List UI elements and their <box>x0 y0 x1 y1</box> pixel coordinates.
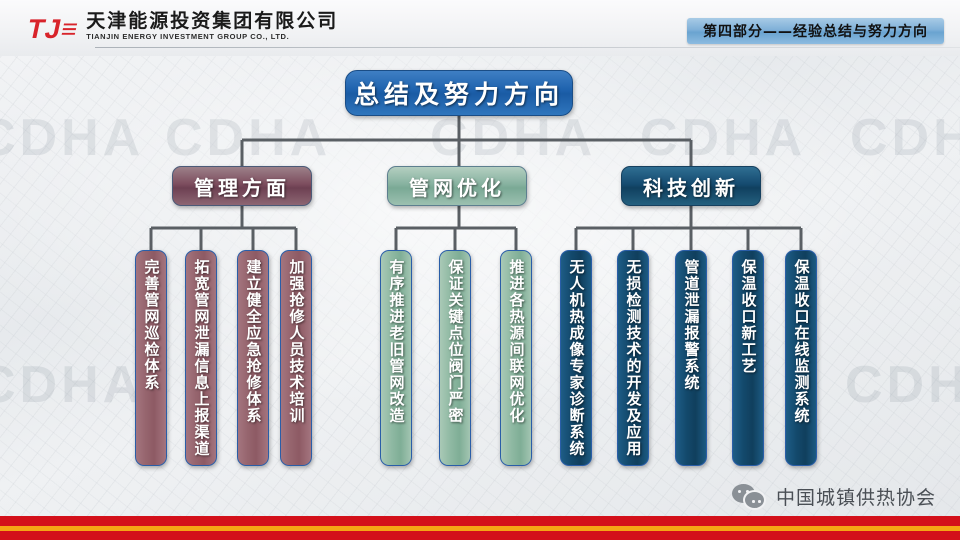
tje-logomark: TJ≡ <box>25 16 80 42</box>
org-diagram: 总结及努力方向 管理方面 管网优化 科技创新 完善管网巡检体系 拓宽管网泄漏信息… <box>0 56 960 476</box>
leaf-node[interactable]: 保温收口在线监测系统 <box>785 250 817 466</box>
root-node-label: 总结及努力方向 <box>354 75 564 111</box>
leaf-node-label: 保温收口在线监测系统 <box>793 259 810 424</box>
leaf-node[interactable]: 无人机热成像专家诊断系统 <box>560 250 592 466</box>
slide-footer-bar <box>0 516 960 540</box>
leaf-node-label: 有序推进老旧管网改造 <box>388 259 405 424</box>
section-banner-label: 第四部分——经验总结与努力方向 <box>703 21 928 41</box>
leaf-node-label: 拓宽管网泄漏信息上报渠道 <box>193 259 210 457</box>
leaf-node[interactable]: 有序推进老旧管网改造 <box>380 250 412 466</box>
leaf-node-label: 保温收口新工艺 <box>740 259 757 375</box>
section-banner: 第四部分——经验总结与努力方向 <box>687 18 944 44</box>
footer-stripe <box>0 526 960 531</box>
slide-header: TJ≡ 天津能源投资集团有限公司 TIANJIN ENERGY INVESTME… <box>0 0 960 56</box>
leaf-node[interactable]: 完善管网巡检体系 <box>135 250 167 466</box>
category-node-management[interactable]: 管理方面 <box>172 166 312 206</box>
leaf-node[interactable]: 推进各热源间联网优化 <box>500 250 532 466</box>
leaf-node-label: 保证关键点位阀门严密 <box>447 259 464 424</box>
leaf-node[interactable]: 无损检测技术的开发及应用 <box>617 250 649 466</box>
leaf-node-label: 无人机热成像专家诊断系统 <box>568 259 585 457</box>
leaf-node[interactable]: 管道泄漏报警系统 <box>675 250 707 466</box>
root-node[interactable]: 总结及努力方向 <box>345 70 573 116</box>
company-logo: TJ≡ 天津能源投资集团有限公司 TIANJIN ENERGY INVESTME… <box>28 11 338 42</box>
association-credit: 中国城镇供热协会 <box>732 483 936 510</box>
leaf-node[interactable]: 保温收口新工艺 <box>732 250 764 466</box>
leaf-node-label: 加强抢修人员技术培训 <box>288 259 305 424</box>
leaf-node-label: 管道泄漏报警系统 <box>683 259 700 391</box>
category-node-label: 科技创新 <box>643 172 739 201</box>
leaf-node[interactable]: 保证关键点位阀门严密 <box>439 250 471 466</box>
wechat-icon <box>732 484 766 510</box>
leaf-node[interactable]: 拓宽管网泄漏信息上报渠道 <box>185 250 217 466</box>
company-name-en: TIANJIN ENERGY INVESTMENT GROUP CO., LTD… <box>86 32 338 42</box>
leaf-node-label: 完善管网巡检体系 <box>143 259 160 391</box>
category-node-label: 管网优化 <box>409 172 505 201</box>
slide-canvas: CDHA CDHA CDHA CDHA CDHA CDHA CDHA TJ≡ 天… <box>0 0 960 540</box>
header-divider <box>95 47 960 48</box>
association-name: 中国城镇供热协会 <box>776 483 936 510</box>
category-node-network[interactable]: 管网优化 <box>387 166 527 206</box>
leaf-node[interactable]: 加强抢修人员技术培训 <box>280 250 312 466</box>
leaf-node[interactable]: 建立健全应急抢修体系 <box>237 250 269 466</box>
leaf-node-label: 建立健全应急抢修体系 <box>245 259 262 424</box>
leaf-node-label: 推进各热源间联网优化 <box>508 259 525 424</box>
category-node-label: 管理方面 <box>194 172 290 201</box>
leaf-node-label: 无损检测技术的开发及应用 <box>625 259 642 457</box>
company-name-cn: 天津能源投资集团有限公司 <box>86 11 338 31</box>
category-node-technology[interactable]: 科技创新 <box>621 166 761 206</box>
